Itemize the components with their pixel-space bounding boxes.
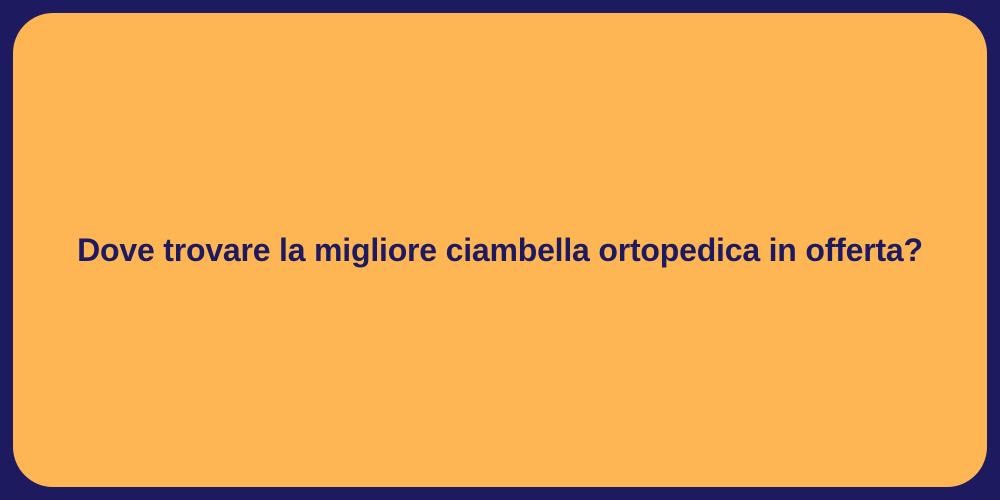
banner-outer-frame: Dove trovare la migliore ciambella ortop…	[0, 0, 1000, 500]
page-title: Dove trovare la migliore ciambella ortop…	[77, 230, 923, 270]
banner-panel: Dove trovare la migliore ciambella ortop…	[13, 13, 987, 487]
